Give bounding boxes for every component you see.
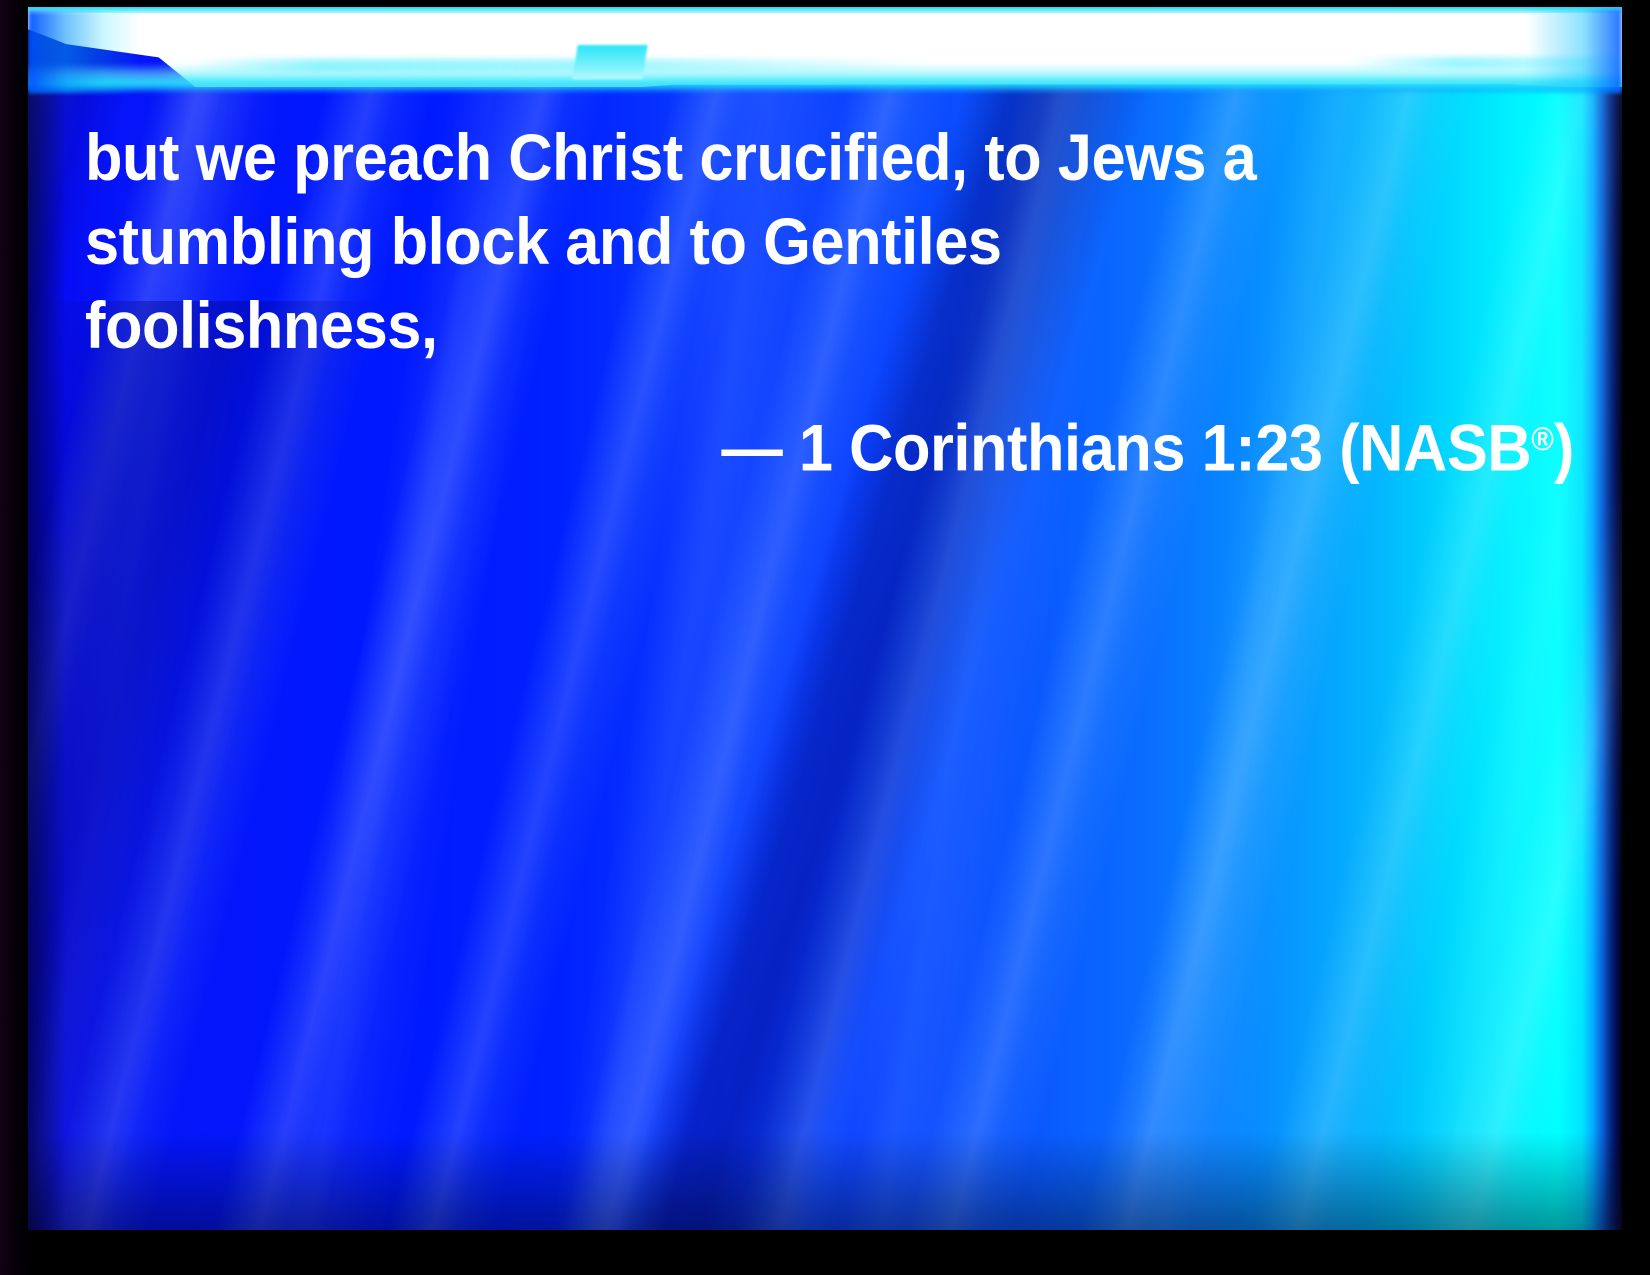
slide-canvas: but we preach Christ crucified, to Jews … (28, 7, 1622, 1230)
attribution-open-paren: ( (1339, 410, 1359, 484)
attribution-translation: NASB (1359, 410, 1531, 484)
attribution-em-dash: — (721, 410, 782, 484)
registered-trademark-icon: ® (1531, 420, 1554, 457)
verse-text-block: but we preach Christ crucified, to Jews … (85, 115, 1585, 489)
attribution-spacer-2 (1323, 410, 1340, 484)
scripture-slide: but we preach Christ crucified, to Jews … (0, 0, 1650, 1275)
attribution-spacer (782, 410, 799, 484)
verse-line-1: but we preach Christ crucified, to Jews … (85, 115, 1480, 199)
verse-line-2: stumbling block and to Gentiles (85, 199, 1480, 283)
attribution-close-paren: ) (1554, 410, 1574, 484)
verse-line-3: foolishness, (85, 283, 1480, 367)
verse-attribution: — 1 Corinthians 1:23 (NASB®) (190, 397, 1585, 489)
attribution-reference: 1 Corinthians 1:23 (799, 410, 1323, 484)
